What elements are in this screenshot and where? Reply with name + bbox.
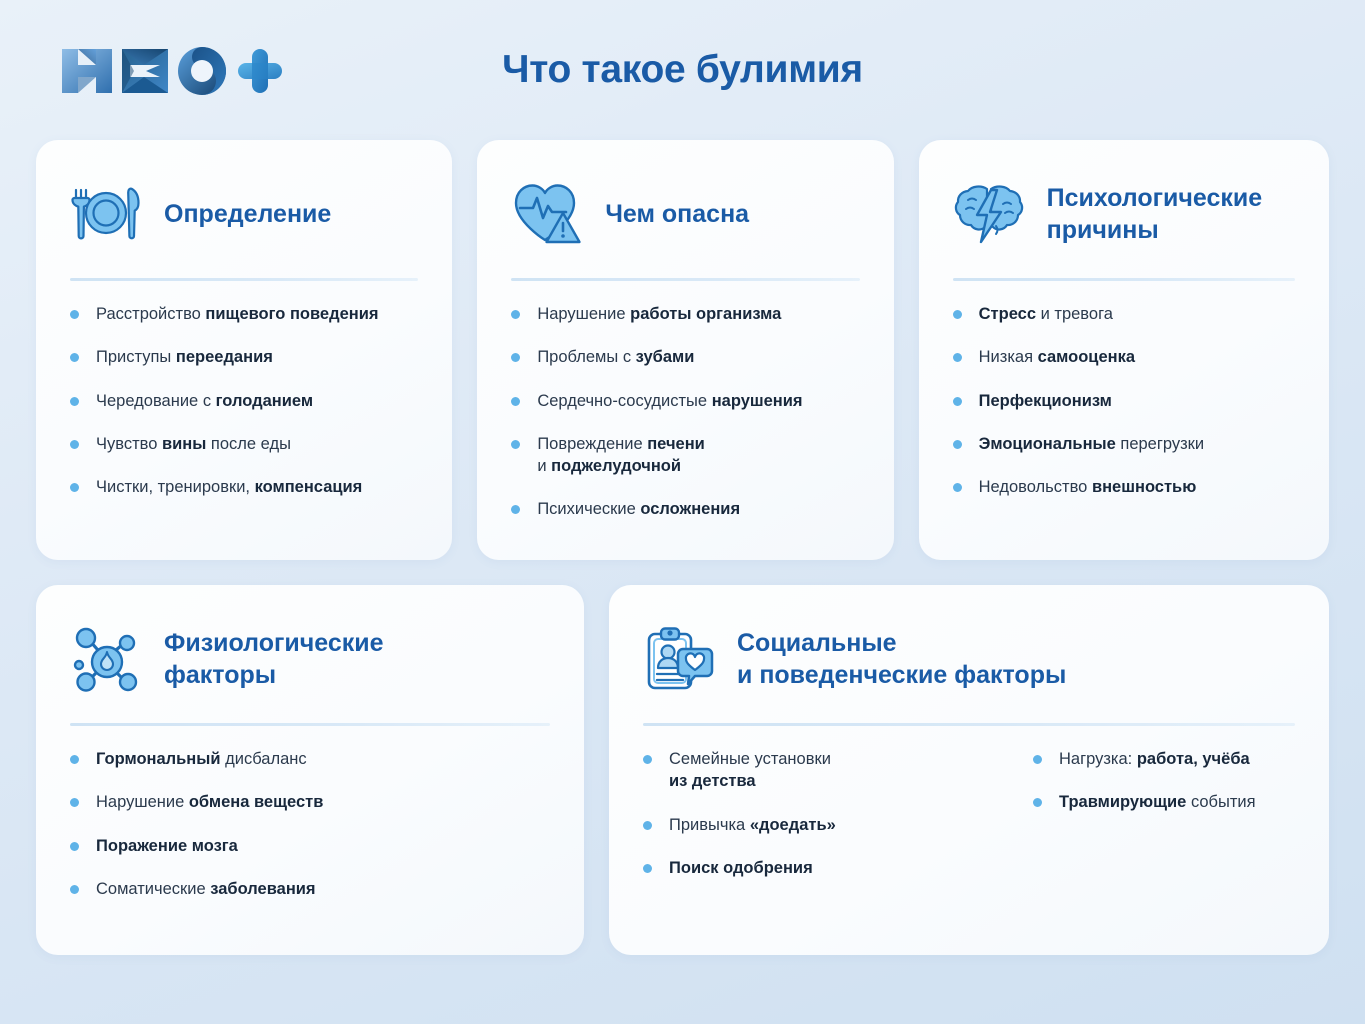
bullet-columns: Семейные установкииз детстваПривычка «до… <box>643 748 1295 879</box>
bullet-item: Психические осложнения <box>511 498 859 520</box>
card-psychological: Психологическиепричины Стресс и тревогаН… <box>919 140 1329 560</box>
bullet-item: Травмирующие события <box>1033 791 1313 813</box>
card-divider <box>70 723 550 726</box>
card-definition: Определение Расстройство пищевого поведе… <box>36 140 452 560</box>
card-title: Физиологическиефакторы <box>164 627 384 691</box>
card-physiological: Физиологическиефакторы Гормональный дисб… <box>36 585 584 955</box>
bullet-item: Поражение мозга <box>70 835 550 857</box>
card-header: Определение <box>70 172 418 256</box>
bullet-item: Расстройство пищевого поведения <box>70 303 418 325</box>
card-title: Чем опасна <box>605 198 749 230</box>
bullet-item: Семейные установкииз детства <box>643 748 993 793</box>
card-social: Социальныеи поведенческие факторы Семейн… <box>609 585 1329 955</box>
bullet-item: Поиск одобрения <box>643 857 993 879</box>
bullet-item: Нагрузка: работа, учёба <box>1033 748 1313 770</box>
bullet-item: Чувство вины после еды <box>70 433 418 455</box>
bullet-list-right: Нагрузка: работа, учёбаТравмирующие собы… <box>1033 748 1313 879</box>
page-header: НЕО+ Что такое булимия <box>36 0 1329 140</box>
card-divider <box>643 723 1295 726</box>
card-header: Чем опасна <box>511 172 859 256</box>
brain-lightning-icon <box>953 178 1025 250</box>
page-title: Что такое булимия <box>36 48 1329 92</box>
bullet-item: Приступы переедания <box>70 346 418 368</box>
bullet-item: Гормональный дисбаланс <box>70 748 550 770</box>
infographic-page: НЕО+ Что такое булимия <box>0 0 1365 1024</box>
card-title: Психологическиепричины <box>1047 182 1263 246</box>
bullet-item: Повреждение печении поджелудочной <box>511 433 859 478</box>
bullet-item: Перфекционизм <box>953 390 1295 412</box>
card-title: Социальныеи поведенческие факторы <box>737 627 1066 691</box>
card-header: Психологическиепричины <box>953 172 1295 256</box>
card-divider <box>511 278 859 281</box>
card-danger: Чем опасна Нарушение работы организмаПро… <box>477 140 893 560</box>
card-title: Определение <box>164 198 331 230</box>
bullet-list: Расстройство пищевого поведенияПриступы … <box>70 303 418 498</box>
molecule-droplet-icon <box>70 623 142 695</box>
card-divider <box>953 278 1295 281</box>
card-header: Социальныеи поведенческие факторы <box>643 617 1295 701</box>
bullet-item: Сердечно-сосудистые нарушения <box>511 390 859 412</box>
bullet-item: Нарушение работы организма <box>511 303 859 325</box>
cards-row-bottom: Физиологическиефакторы Гормональный дисб… <box>36 585 1329 955</box>
bullet-item: Нарушение обмена веществ <box>70 791 550 813</box>
clipboard-person-heart-icon <box>643 623 715 695</box>
heart-pulse-warning-icon <box>511 178 583 250</box>
cards-row-top: Определение Расстройство пищевого поведе… <box>36 140 1329 560</box>
bullet-item: Эмоциональные перегрузки <box>953 433 1295 455</box>
bullet-item: Недовольство внешностью <box>953 476 1295 498</box>
bullet-item: Чистки, тренировки, компенсация <box>70 476 418 498</box>
card-header: Физиологическиефакторы <box>70 617 550 701</box>
bullet-list: Нарушение работы организмаПроблемы с зуб… <box>511 303 859 521</box>
card-divider <box>70 278 418 281</box>
plate-fork-knife-icon <box>70 178 142 250</box>
bullet-item: Низкая самооценка <box>953 346 1295 368</box>
bullet-item: Соматические заболевания <box>70 878 550 900</box>
bullet-item: Стресс и тревога <box>953 303 1295 325</box>
bullet-item: Проблемы с зубами <box>511 346 859 368</box>
bullet-list: Стресс и тревогаНизкая самооценкаПерфекц… <box>953 303 1295 498</box>
bullet-item: Привычка «доедать» <box>643 814 993 836</box>
bullet-list-left: Семейные установкииз детстваПривычка «до… <box>643 748 993 879</box>
bullet-item: Чередование с голоданием <box>70 390 418 412</box>
bullet-list: Гормональный дисбалансНарушение обмена в… <box>70 748 550 900</box>
